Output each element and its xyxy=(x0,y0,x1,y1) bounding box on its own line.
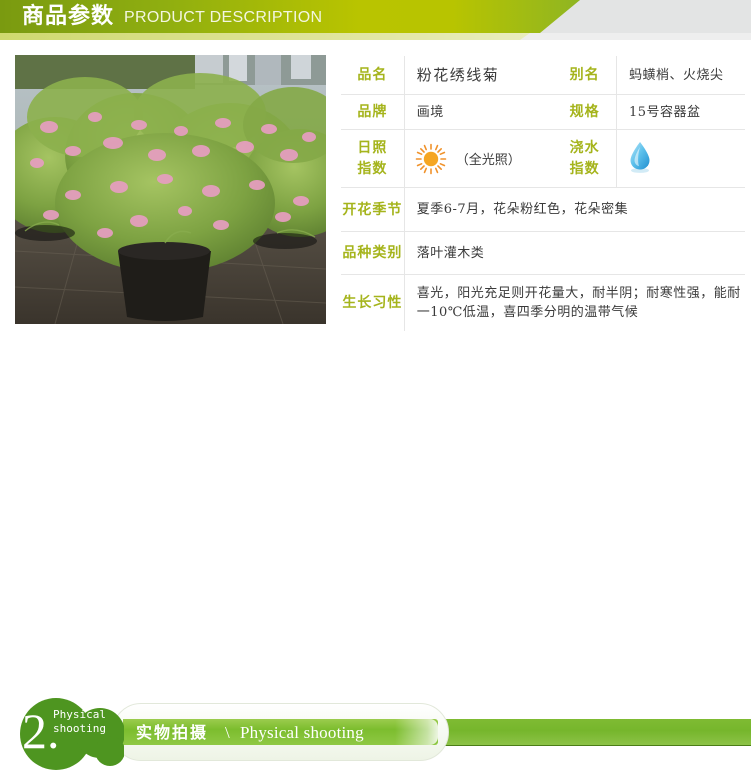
banner-title-cn: 实物拍摄 xyxy=(136,720,208,745)
sun-icon xyxy=(415,143,447,175)
spec-value-kaihua: 夏季6-7月，花朵粉红色，花朵密集 xyxy=(404,188,745,232)
spec-label-pinming: 品名 xyxy=(341,56,404,95)
spec-value-jiaoshui xyxy=(616,130,745,188)
spec-value-pinpai: 画境 xyxy=(404,95,553,130)
table-row: 品名 粉花绣线菊 别名 蚂蟥梢、火烧尖 xyxy=(341,56,745,95)
page-title-cn: 商品参数 xyxy=(22,2,114,32)
spec-label-rizhao: 日照 指数 xyxy=(341,130,404,188)
page-header: 商品参数 PRODUCT DESCRIPTION xyxy=(0,0,751,40)
table-row: 品牌 画境 规格 15号容器盆 xyxy=(341,95,745,130)
spec-label-kaihua: 开花季节 xyxy=(341,188,404,232)
spec-label-rizhao-line1: 日照 xyxy=(341,138,404,159)
spec-value-guige: 15号容器盆 xyxy=(616,95,745,130)
sun-index-label: （全光照） xyxy=(456,149,521,168)
spec-label-pinpai: 品牌 xyxy=(341,95,404,130)
spec-value-rizhao: （全光照） xyxy=(404,130,553,188)
banner-title-separator: \ xyxy=(225,720,230,745)
spec-label-jiaoshui-line1: 浇水 xyxy=(553,138,616,159)
bottom-section-banner: 实物拍摄 \ Physical shooting 2. Physical sho… xyxy=(0,345,751,429)
spec-value-pinzhong: 落叶灌木类 xyxy=(404,232,745,275)
spec-label-guige: 规格 xyxy=(553,95,616,130)
spec-label-pinzhong: 品种类别 xyxy=(341,232,404,275)
spec-label-rizhao-line2: 指数 xyxy=(341,159,404,180)
table-row: 品种类别 落叶灌木类 xyxy=(341,232,745,275)
banner-pill-fade xyxy=(395,719,438,745)
spec-label-jiaoshui: 浇水 指数 xyxy=(553,130,616,188)
banner-title-en: Physical shooting xyxy=(240,720,364,745)
badge-label-line2: shooting xyxy=(53,722,106,736)
product-photo xyxy=(15,55,326,324)
spec-value-pinming: 粉花绣线菊 xyxy=(404,56,553,95)
spec-value-shengzhang: 喜光，阳光充足则开花量大，耐半阴；耐寒性强，能耐一10℃低温，喜四季分明的温带气… xyxy=(404,275,745,332)
page-title-en: PRODUCT DESCRIPTION xyxy=(124,7,322,29)
header-green-underline xyxy=(0,33,530,40)
spec-label-shengzhang: 生长习性 xyxy=(341,275,404,332)
spec-label-bieming: 别名 xyxy=(553,56,616,95)
badge-label-line1: Physical xyxy=(53,708,106,722)
water-drop-icon xyxy=(627,140,653,174)
table-row: 生长习性 喜光，阳光充足则开花量大，耐半阴；耐寒性强，能耐一10℃低温，喜四季分… xyxy=(341,275,745,332)
table-row: 开花季节 夏季6-7月，花朵粉红色，花朵密集 xyxy=(341,188,745,232)
photo-illustration xyxy=(15,55,326,324)
table-row: 日照 指数 xyxy=(341,130,745,188)
spec-value-bieming: 蚂蟥梢、火烧尖 xyxy=(616,56,745,95)
spec-label-jiaoshui-line2: 指数 xyxy=(553,159,616,180)
spec-table: 品名 粉花绣线菊 别名 蚂蟥梢、火烧尖 品牌 画境 规格 15号容器盆 日照 指… xyxy=(341,56,745,331)
